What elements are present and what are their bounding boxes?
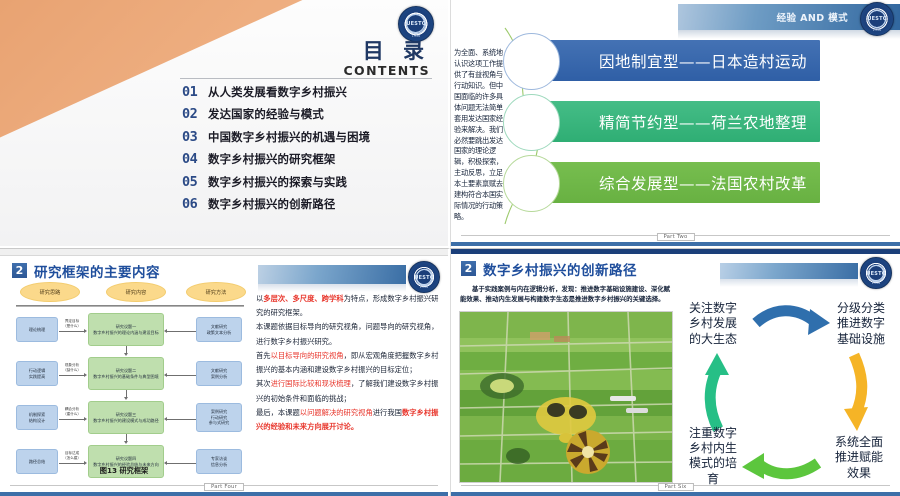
flow-arrow-r1	[167, 331, 196, 332]
flow-arrow-r3	[167, 419, 196, 420]
section-number-badge: 2	[461, 261, 476, 276]
flow-center-box-3: 研究议题三数字乡村振兴的建设模式与成功路径	[88, 401, 164, 434]
flow-arrowhead-r1	[164, 329, 167, 333]
flow-right-box-3: 案例研究行动研究参与式研究	[196, 403, 242, 432]
cycle-label-bottom-right: 系统全面推进赋能效果	[828, 435, 890, 481]
flow-arrow-label-3: 耦合分析（建什么）	[59, 407, 85, 416]
toc-number: 04	[182, 151, 208, 167]
flow-arrowhead-r2	[164, 373, 167, 377]
flow-right-box-1: 文献研究政策文本分析	[196, 317, 242, 342]
toc-item-6[interactable]: 06 数字乡村振兴的创新路径	[182, 196, 436, 212]
flow-vhead-1	[124, 353, 128, 356]
column-header-pill-1: 研究思路	[20, 282, 80, 302]
toc-number: 03	[182, 129, 208, 145]
intro-paragraph: 为全面、系统地认识这项工作提供了有益视角与行动知识。但中国面临的许多具体问题无法…	[454, 48, 506, 223]
toc-label: 数字乡村振兴的探索与实践	[208, 174, 347, 190]
flow-left-box-2: 行动逻辑实践提高	[16, 361, 58, 386]
p4-pre: 其次	[256, 379, 271, 388]
flow-left-box-1: 理论梳理	[16, 317, 58, 342]
toc-title-cn: 目 录	[343, 40, 430, 62]
flow-arrow-r2	[167, 375, 196, 376]
toc-item-4[interactable]: 04 数字乡村振兴的研究框架	[182, 151, 436, 167]
slide3-topbar	[0, 249, 448, 256]
aerial-farmland-photo	[459, 311, 673, 483]
toc-label: 数字乡村振兴的研究框架	[208, 151, 336, 167]
logo-year: 1956	[409, 285, 439, 289]
framework-paragraph-3: 首先以目标导向的研究视角，即从宏观角度把握数字乡村振兴的基本内涵和建设数字乡村振…	[256, 349, 442, 377]
column-header-pill-2: 研究内容	[106, 282, 166, 302]
toc-number: 01	[182, 84, 208, 100]
logo-name: UESTC	[861, 16, 893, 22]
flow-right-box-2: 文献研究案例分析	[196, 361, 242, 386]
header-banner-shadow	[258, 284, 406, 292]
logo-year: 1956	[399, 34, 433, 38]
flow-arrowhead-3	[84, 417, 87, 421]
flow-arrowhead-4	[84, 461, 87, 465]
toc-item-3[interactable]: 03 中国数字乡村振兴的机遇与困境	[182, 129, 436, 145]
flow-center-box-2: 研究议题二数字乡村振兴的基础条件与典型困境	[88, 357, 164, 390]
toc-number: 02	[182, 106, 208, 122]
header-banner	[720, 263, 858, 279]
toc-list: 01 从人类发展看数字乡村振兴 02 发达国家的经验与模式 03 中国数字乡村振…	[182, 84, 436, 218]
cycle-diagram: 关注数字乡村发展的大生态 分级分类推进数字基础设施 系统全面推进赋能效果 注重数…	[678, 297, 896, 487]
flow-arrowhead-r4	[164, 461, 167, 465]
model-row-3[interactable]: 综合发展型——法国农村改革	[537, 162, 807, 203]
cycle-label-top-right: 分级分类推进数字基础设施	[830, 301, 892, 347]
slide-developed-country-models: 经验 AND 模式 UESTC 1956 为全面、系统地认识这项工作提供了有益视…	[450, 0, 900, 248]
toc-item-2[interactable]: 02 发达国家的经验与模式	[182, 106, 436, 122]
footer-part-label: Part Two	[656, 233, 694, 241]
flow-arrow-label-2: 现象分析（缺什么）	[59, 363, 85, 372]
slide-table-of-contents: UESTC 1956 目 录 CONTENTS 01 从人类发展看数字乡村振兴 …	[0, 0, 450, 248]
footer-part-label: Part Six	[657, 483, 693, 491]
toc-label: 中国数字乡村振兴的机遇与困境	[208, 129, 370, 145]
flow-arrow-label-4: 目标达成（怎么建）	[59, 451, 85, 460]
university-logo-icon: UESTC 1956	[860, 2, 894, 36]
toc-title-block: 目 录 CONTENTS	[343, 40, 430, 78]
flow-arrow-3	[59, 419, 85, 420]
flow-arrow-label-1: 界定目标（是什么）	[59, 319, 85, 328]
p5-post: 进行我国	[373, 408, 402, 417]
slide-bottom-bar	[0, 492, 448, 496]
flow-center-box-1: 研究议题一数字乡村振兴的理论内涵与建设目标	[88, 313, 164, 346]
flow-arrowhead-r3	[164, 417, 167, 421]
toc-number: 06	[182, 196, 208, 212]
model-row-2[interactable]: 精简节约型——荷兰农地整理	[537, 101, 807, 142]
toc-label: 从人类发展看数字乡村振兴	[208, 84, 347, 100]
p5-pre: 最后，本课题	[256, 408, 300, 417]
university-logo-icon: UESTC 1956	[860, 257, 892, 289]
model-label-1: 因地制宜型——日本造村运动	[537, 50, 807, 72]
framework-paragraph-2: 本课题依据目标导向的研究视角，问题导向的研究视角，进行数字乡村振兴研究。	[256, 320, 442, 348]
p1-highlight: 多层次、多尺度、跨学科	[263, 294, 343, 303]
slide-title: 研究框架的主要内容	[34, 261, 160, 281]
section-number-badge: 2	[12, 263, 27, 278]
framework-body-text: 以多层次、多尺度、跨学科为特点，形成数字乡村振兴研究的研究框架。 本课题依据目标…	[256, 292, 442, 434]
column-header-pill-3: 研究方法	[186, 282, 246, 302]
flow-vhead-2	[124, 397, 128, 400]
p5-highlight: 以问题解决的研究视角	[300, 408, 373, 417]
footer-part-label: Part Four	[204, 483, 244, 491]
logo-year: 1956	[861, 28, 893, 32]
flow-arrow-r4	[167, 463, 196, 464]
p3-highlight: 以目标导向的研究视角	[271, 351, 344, 360]
slide-subtitle: 基于实践案例与内在逻辑分析，发现：推进数字基础设施建设、深化赋能效果、推动内生发…	[460, 285, 672, 304]
flow-arrow-1	[59, 331, 85, 332]
slide-title: 数字乡村振兴的创新路径	[483, 259, 637, 279]
toc-title-en: CONTENTS	[343, 63, 430, 78]
toc-label: 发达国家的经验与模式	[208, 106, 324, 122]
figure-caption: 图13 研究框架	[0, 466, 248, 476]
slide-research-framework: 2 研究框架的主要内容 UESTC 1956 研究思路 研究内容 研究方法 理论…	[0, 248, 450, 496]
model-row-1[interactable]: 因地制宜型——日本造村运动	[537, 40, 807, 81]
p4-highlight: 进行国际比较和现状梳理	[271, 379, 351, 388]
logo-year: 1956	[861, 281, 891, 285]
cycle-label-top-left: 关注数字乡村发展的大生态	[682, 301, 744, 347]
framework-paragraph-5: 最后，本课题以问题解决的研究视角进行我国数字乡村振兴的经验和未来方向展开讨论。	[256, 406, 442, 434]
slide-bottom-bar	[451, 242, 900, 246]
header-separator-line	[16, 305, 244, 307]
framework-paragraph-4: 其次进行国际比较和现状梳理，了解我们建设数字乡村振兴的初始条件和面临的挑战；	[256, 377, 442, 405]
farmland-illustration	[460, 312, 672, 482]
flow-arrowhead-2	[84, 373, 87, 377]
slide4-topbar	[451, 249, 900, 254]
cycle-label-bottom-left: 注重数字乡村内生模式的培育	[680, 426, 746, 487]
flow-vhead-3	[124, 441, 128, 444]
toc-number: 05	[182, 174, 208, 190]
logo-name: UESTC	[399, 21, 433, 27]
university-logo-icon: UESTC 1956	[398, 6, 434, 42]
flow-left-box-3: 机制探索结构设计	[16, 405, 58, 430]
flow-arrow-2	[59, 375, 85, 376]
slide-innovation-path: 2 数字乡村振兴的创新路径 UESTC 1956 基于实践案例与内在逻辑分析，发…	[450, 248, 900, 496]
toc-item-1[interactable]: 01 从人类发展看数字乡村振兴	[182, 84, 436, 100]
flow-arrowhead-1	[84, 329, 87, 333]
framework-paragraph-1: 以多层次、多尺度、跨学科为特点，形成数字乡村振兴研究的研究框架。	[256, 292, 442, 320]
university-logo-icon: UESTC 1956	[408, 261, 440, 293]
toc-divider	[180, 78, 432, 79]
header-banner-title: 经验 AND 模式	[777, 10, 848, 24]
slide-bottom-bar	[451, 492, 900, 496]
header-banner-shadow	[720, 279, 858, 287]
model-label-2: 精简节约型——荷兰农地整理	[537, 111, 807, 133]
toc-label: 数字乡村振兴的创新路径	[208, 196, 336, 212]
logo-name: UESTC	[409, 275, 439, 281]
header-banner	[258, 265, 406, 284]
flow-arrow-4	[59, 463, 85, 464]
p3-pre: 首先	[256, 351, 271, 360]
toc-item-5[interactable]: 05 数字乡村振兴的探索与实践	[182, 174, 436, 190]
model-label-3: 综合发展型——法国农村改革	[537, 172, 807, 194]
slide-grid: UESTC 1956 目 录 CONTENTS 01 从人类发展看数字乡村振兴 …	[0, 0, 900, 496]
logo-name: UESTC	[861, 271, 891, 277]
